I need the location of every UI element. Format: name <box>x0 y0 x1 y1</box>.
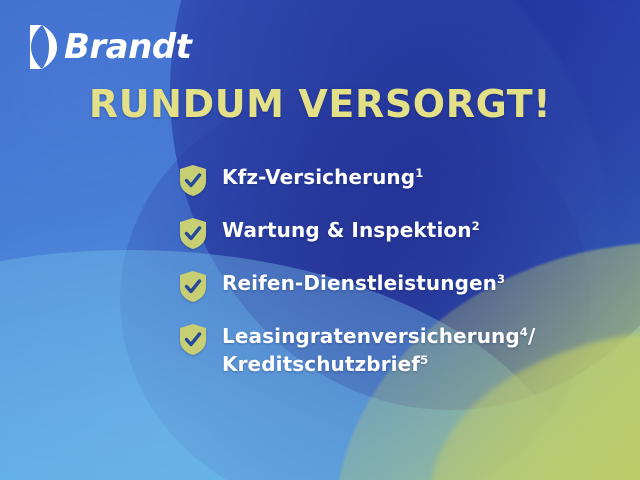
feature-footnote: 3 <box>497 272 505 286</box>
feature-footnote: 4 <box>520 325 528 339</box>
list-item: Leasingratenversicherung4/Kreditschutzbr… <box>178 322 535 379</box>
feature-label-text: Wartung & Inspektion <box>222 218 472 242</box>
feature-label-text: Reifen-Dienstleistungen <box>222 271 497 295</box>
feature-footnote: 1 <box>415 166 423 180</box>
feature-list: Kfz-Versicherung1 Wartung & Inspektion2 … <box>178 163 535 379</box>
page-title: RUNDUM VERSORGT! <box>0 82 640 126</box>
brand-logo: Brandt <box>28 22 191 72</box>
feature-label: Wartung & Inspektion2 <box>222 216 480 244</box>
feature-label-line2: Kreditschutzbrief <box>222 352 420 376</box>
feature-label: Reifen-Dienstleistungen3 <box>222 269 505 297</box>
brand-name: Brandt <box>64 30 191 64</box>
feature-label-text: Leasingratenversicherung <box>222 324 520 348</box>
bracket-swoosh-icon <box>28 23 58 71</box>
shield-check-icon <box>178 217 208 250</box>
feature-label-text: Kfz-Versicherung <box>222 165 415 189</box>
feature-label: Leasingratenversicherung4/Kreditschutzbr… <box>222 322 535 379</box>
feature-label: Kfz-Versicherung1 <box>222 163 423 191</box>
feature-label-suffix: / <box>528 324 535 348</box>
shield-check-icon <box>178 164 208 197</box>
feature-footnote-2: 5 <box>420 353 428 367</box>
list-item: Wartung & Inspektion2 <box>178 216 535 250</box>
shield-check-icon <box>178 270 208 303</box>
feature-footnote: 2 <box>472 219 480 233</box>
promo-banner: Brandt RUNDUM VERSORGT! Kfz-Versicherung… <box>0 0 640 480</box>
list-item: Kfz-Versicherung1 <box>178 163 535 197</box>
shield-check-icon <box>178 323 208 356</box>
list-item: Reifen-Dienstleistungen3 <box>178 269 535 303</box>
